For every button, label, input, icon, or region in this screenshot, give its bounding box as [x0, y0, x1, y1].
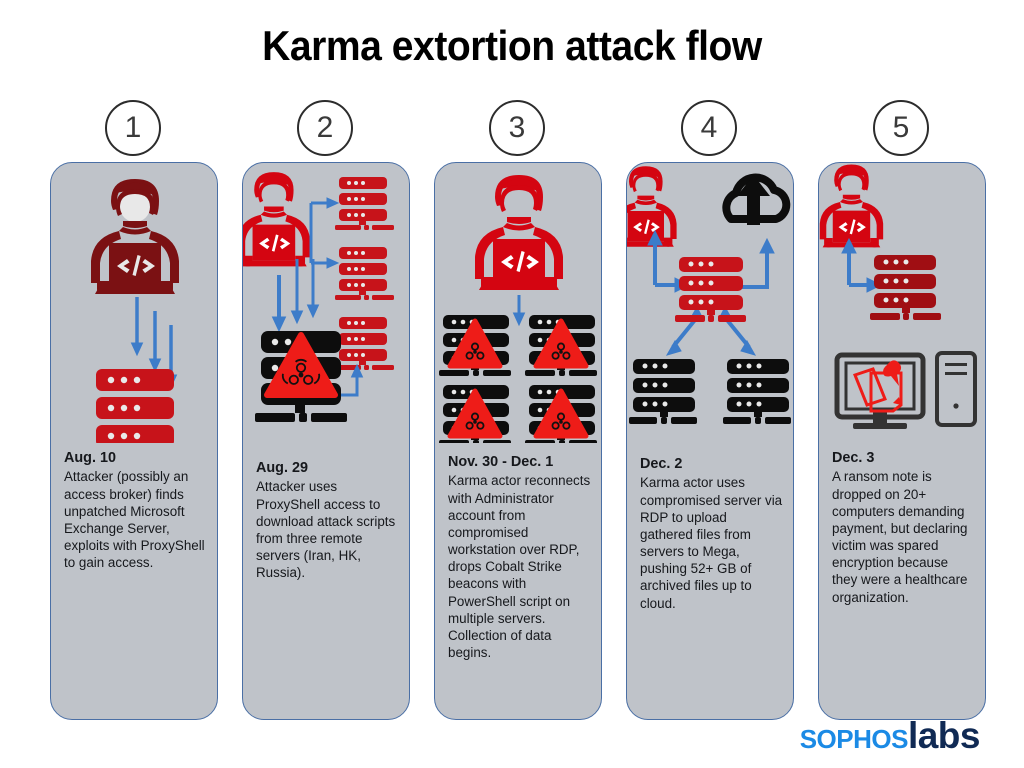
- step-panel-2: Aug. 29 Attacker uses ProxyShell access …: [242, 162, 410, 720]
- step-1-date: Aug. 10: [64, 449, 207, 467]
- step-5-body: A ransom note is dropped on 20+ computer…: [832, 468, 975, 605]
- flow-step-5: 5: [818, 100, 986, 725]
- step-3-body: Karma actor reconnects with Administrato…: [448, 472, 591, 661]
- step-1-illustration: [51, 163, 217, 443]
- arrow-bidirectional-icon: [648, 231, 774, 355]
- remote-server-icon: [335, 177, 394, 370]
- step-number-badge-2: 2: [297, 100, 353, 156]
- hacker-laptop-icon: [243, 172, 310, 266]
- infected-server-icon: [629, 359, 791, 424]
- step-number-3: 3: [509, 113, 526, 143]
- sophoslabs-logo: sophoslabs: [800, 717, 980, 754]
- flow-step-1: 1: [50, 100, 218, 725]
- step-number-5: 5: [893, 113, 910, 143]
- biohazard-warning-icon: [450, 321, 586, 436]
- flow-step-2: 2: [242, 100, 410, 725]
- ransom-note-monitor-icon: [837, 355, 923, 429]
- hacker-laptop-icon: [627, 166, 677, 247]
- step-1-body: Attacker (possibly an access broker) fin…: [64, 468, 207, 571]
- server-stack-icon: [89, 369, 181, 443]
- hacker-laptop-icon: [91, 179, 179, 294]
- step-5-date: Dec. 3: [832, 449, 975, 467]
- flow-step-4: 4: [626, 100, 794, 725]
- step-5-caption: Dec. 3 A ransom note is dropped on 20+ c…: [832, 449, 975, 606]
- step-panel-4: Dec. 2 Karma actor uses compromised serv…: [626, 162, 794, 720]
- arrow-right-icon: [311, 198, 338, 268]
- step-number-1: 1: [125, 113, 142, 143]
- logo-sophos-text: sophos: [800, 715, 908, 756]
- step-4-caption: Dec. 2 Karma actor uses compromised serv…: [640, 455, 783, 612]
- page-title: Karma extortion attack flow: [36, 22, 988, 70]
- step-3-illustration: [435, 163, 601, 443]
- step-3-date: Nov. 30 - Dec. 1: [448, 453, 591, 471]
- step-2-illustration: [243, 163, 409, 443]
- hacker-laptop-icon: [820, 165, 883, 248]
- step-number-badge-5: 5: [873, 100, 929, 156]
- step-5-illustration: [819, 163, 985, 443]
- cloud-upload-icon: [726, 175, 786, 225]
- hacker-laptop-icon: [475, 175, 563, 290]
- step-3-caption: Nov. 30 - Dec. 1 Karma actor reconnects …: [448, 453, 591, 661]
- step-4-body: Karma actor uses compromised server via …: [640, 474, 783, 611]
- pc-tower-icon: [937, 353, 975, 425]
- step-4-illustration: [627, 163, 793, 443]
- step-1-caption: Aug. 10 Attacker (possibly an access bro…: [64, 449, 207, 571]
- step-number-2: 2: [317, 113, 334, 143]
- arrow-down-icon: [273, 259, 319, 331]
- server-stack-icon: [675, 257, 746, 322]
- step-4-date: Dec. 2: [640, 455, 783, 473]
- step-2-caption: Aug. 29 Attacker uses ProxyShell access …: [256, 459, 399, 581]
- logo-labs-text: labs: [908, 715, 980, 756]
- step-number-4: 4: [701, 113, 718, 143]
- attack-flow-diagram: 1: [50, 100, 990, 725]
- step-2-body: Attacker uses ProxyShell access to downl…: [256, 478, 399, 581]
- step-panel-1: Aug. 10 Attacker (possibly an access bro…: [50, 162, 218, 720]
- step-number-badge-3: 3: [489, 100, 545, 156]
- step-panel-3: Nov. 30 - Dec. 1 Karma actor reconnects …: [434, 162, 602, 720]
- arrow-down-icon: [514, 295, 525, 325]
- server-stack-icon: [870, 255, 941, 320]
- step-number-badge-1: 1: [105, 100, 161, 156]
- flow-step-3: 3: [434, 100, 602, 725]
- step-panel-5: Dec. 3 A ransom note is dropped on 20+ c…: [818, 162, 986, 720]
- step-number-badge-4: 4: [681, 100, 737, 156]
- step-2-date: Aug. 29: [256, 459, 399, 477]
